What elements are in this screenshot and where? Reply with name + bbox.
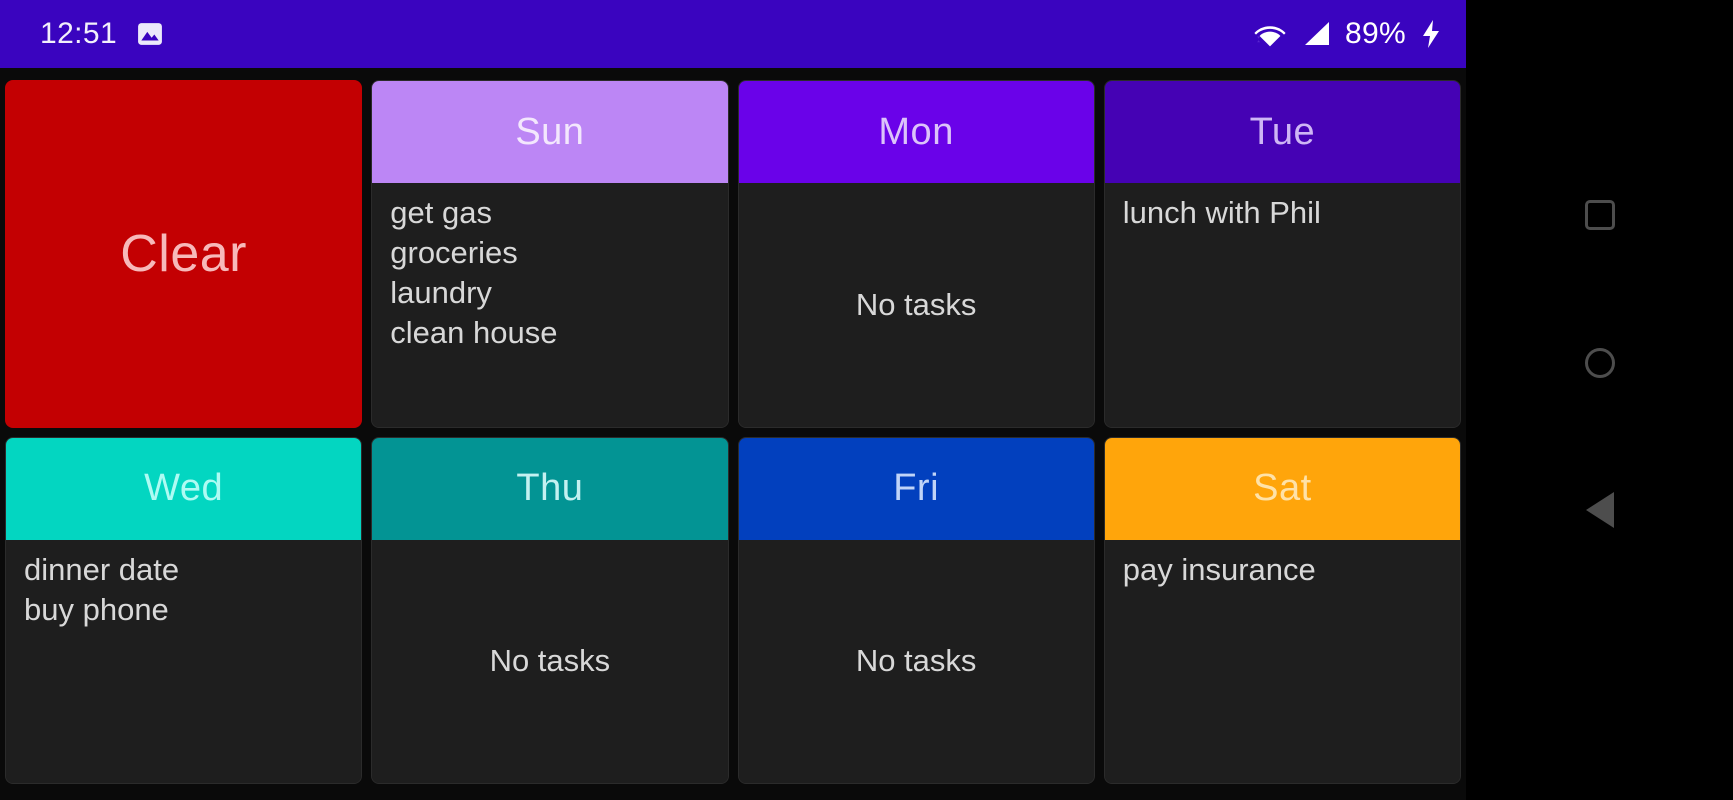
day-card-fri[interactable]: Fri No tasks xyxy=(738,437,1095,785)
day-label-mon: Mon xyxy=(878,111,953,154)
list-item[interactable]: groceries xyxy=(390,233,711,273)
day-header-fri[interactable]: Fri xyxy=(739,438,1094,540)
day-label-sat: Sat xyxy=(1253,467,1312,510)
cellular-signal-icon xyxy=(1301,20,1331,48)
android-nav-bar xyxy=(1466,0,1733,800)
task-list-wed: dinner date buy phone xyxy=(24,550,345,630)
app-root: 12:51 xyxy=(0,0,1466,800)
day-body-sat[interactable]: pay insurance xyxy=(1105,540,1460,784)
status-clock: 12:51 xyxy=(40,17,117,51)
day-body-tue[interactable]: lunch with Phil xyxy=(1105,183,1460,427)
day-header-wed[interactable]: Wed xyxy=(6,438,361,540)
day-header-mon[interactable]: Mon xyxy=(739,81,1094,183)
list-item[interactable]: dinner date xyxy=(24,550,345,590)
day-card-sun[interactable]: Sun get gas groceries laundry clean hous… xyxy=(371,80,728,428)
status-bar-right: 89% xyxy=(1253,17,1442,51)
day-card-sat[interactable]: Sat pay insurance xyxy=(1104,437,1461,785)
list-item[interactable]: get gas xyxy=(390,193,711,233)
clear-button-label: Clear xyxy=(120,224,247,284)
list-item[interactable]: lunch with Phil xyxy=(1123,193,1444,233)
day-body-mon[interactable]: No tasks xyxy=(739,183,1094,427)
no-tasks-label: No tasks xyxy=(372,643,727,679)
battery-percent-label: 89% xyxy=(1345,17,1406,51)
day-label-fri: Fri xyxy=(893,467,939,510)
day-label-tue: Tue xyxy=(1250,111,1316,154)
recents-square-icon[interactable] xyxy=(1565,180,1635,250)
day-header-sat[interactable]: Sat xyxy=(1105,438,1460,540)
task-list-sat: pay insurance xyxy=(1123,550,1444,590)
no-tasks-label: No tasks xyxy=(739,643,1094,679)
list-item[interactable]: laundry xyxy=(390,273,711,313)
status-bar: 12:51 xyxy=(0,0,1466,68)
home-circle-icon[interactable] xyxy=(1565,328,1635,398)
back-triangle-icon[interactable] xyxy=(1565,475,1635,545)
status-bar-left: 12:51 xyxy=(40,17,163,51)
day-body-thu[interactable]: No tasks xyxy=(372,540,727,784)
device-screen: 12:51 xyxy=(0,0,1733,800)
charging-bolt-icon xyxy=(1420,19,1442,49)
day-card-tue[interactable]: Tue lunch with Phil xyxy=(1104,80,1461,428)
week-grid: Clear Sun get gas groceries laundry clea… xyxy=(0,74,1466,800)
day-body-sun[interactable]: get gas groceries laundry clean house xyxy=(372,183,727,427)
task-list-tue: lunch with Phil xyxy=(1123,193,1444,233)
day-body-fri[interactable]: No tasks xyxy=(739,540,1094,784)
task-list-sun: get gas groceries laundry clean house xyxy=(390,193,711,353)
day-header-sun[interactable]: Sun xyxy=(372,81,727,183)
photo-icon xyxy=(137,21,163,47)
day-header-thu[interactable]: Thu xyxy=(372,438,727,540)
day-label-sun: Sun xyxy=(515,111,584,154)
list-item[interactable]: buy phone xyxy=(24,590,345,630)
day-label-wed: Wed xyxy=(144,467,223,510)
clear-button[interactable]: Clear xyxy=(5,80,362,428)
list-item[interactable]: clean house xyxy=(390,313,711,353)
no-tasks-label: No tasks xyxy=(739,287,1094,323)
day-card-wed[interactable]: Wed dinner date buy phone xyxy=(5,437,362,785)
day-header-tue[interactable]: Tue xyxy=(1105,81,1460,183)
wifi-icon xyxy=(1253,20,1287,48)
day-card-thu[interactable]: Thu No tasks xyxy=(371,437,728,785)
day-label-thu: Thu xyxy=(516,467,583,510)
day-card-mon[interactable]: Mon No tasks xyxy=(738,80,1095,428)
list-item[interactable]: pay insurance xyxy=(1123,550,1444,590)
day-body-wed[interactable]: dinner date buy phone xyxy=(6,540,361,784)
